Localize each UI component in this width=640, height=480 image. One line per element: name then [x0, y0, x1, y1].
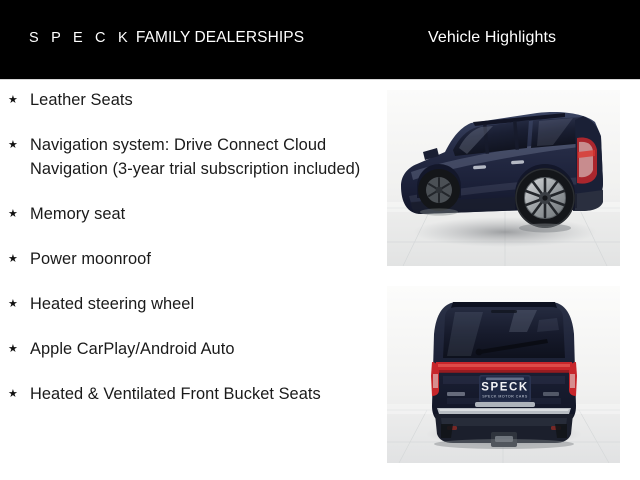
- list-item: ★ Power moonroof: [8, 247, 372, 271]
- feature-label: Power moonroof: [22, 247, 372, 271]
- slide-root: S P E C KFAMILY DEALERSHIPS Vehicle High…: [0, 0, 640, 480]
- list-item: ★ Heated steering wheel: [8, 292, 372, 316]
- feature-label: Apple CarPlay/Android Auto: [22, 337, 372, 361]
- feature-label: Heated & Ventilated Front Bucket Seats: [22, 382, 372, 406]
- star-icon: ★: [8, 133, 22, 157]
- header-divider: [0, 79, 640, 80]
- feature-label: Heated steering wheel: [22, 292, 372, 316]
- brand-name-text: FAMILY DEALERSHIPS: [136, 29, 304, 46]
- license-plate-text: SPECK: [481, 382, 529, 394]
- star-icon: ★: [8, 88, 22, 112]
- star-icon: ★: [8, 202, 22, 226]
- star-icon: ★: [8, 382, 22, 406]
- license-plate-subtext: SPECK MOTOR CARS: [482, 395, 528, 399]
- vehicle-photo-rear: SPECK SPECK MOTOR CARS: [387, 286, 620, 463]
- list-item: ★ Leather Seats: [8, 88, 372, 112]
- list-item: ★ Heated & Ventilated Front Bucket Seats: [8, 382, 372, 406]
- star-icon: ★: [8, 337, 22, 361]
- star-icon: ★: [8, 247, 22, 271]
- list-item: ★ Memory seat: [8, 202, 372, 226]
- brand-logo: S P E C KFAMILY DEALERSHIPS: [29, 28, 304, 48]
- list-item: ★ Navigation system: Drive Connect Cloud…: [8, 133, 372, 181]
- star-icon: ★: [8, 292, 22, 316]
- feature-list: ★ Leather Seats ★ Navigation system: Dri…: [0, 88, 372, 406]
- page-title: Vehicle Highlights: [428, 28, 556, 48]
- list-item: ★ Apple CarPlay/Android Auto: [8, 337, 372, 361]
- feature-label: Memory seat: [22, 202, 372, 226]
- feature-label: Navigation system: Drive Connect Cloud N…: [22, 133, 372, 181]
- brand-mark-text: S P E C K: [29, 30, 132, 46]
- feature-label: Leather Seats: [22, 88, 372, 112]
- vehicle-photo-rear-three-quarter: [387, 90, 620, 266]
